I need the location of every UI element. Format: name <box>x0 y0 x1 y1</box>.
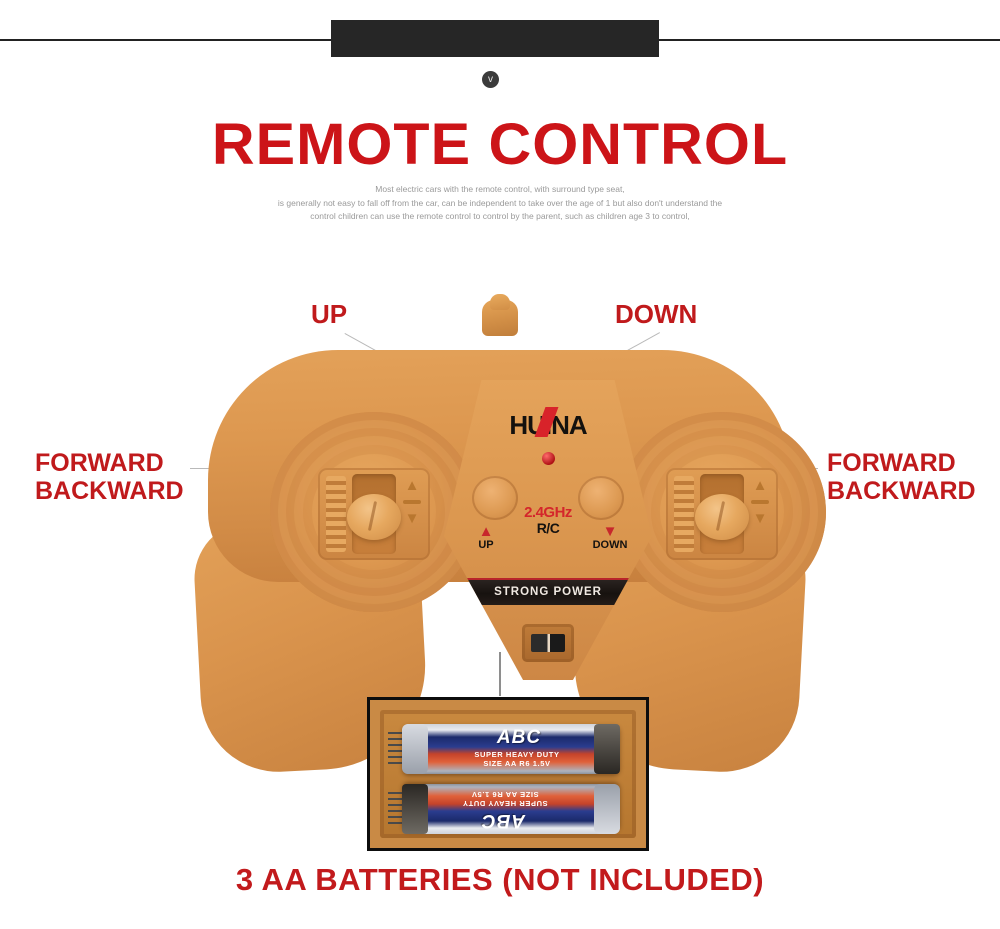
subtitle-line-3: control children can use the remote cont… <box>160 210 840 224</box>
joystick-right-knob[interactable] <box>695 494 749 540</box>
callout-right-forward: FORWARD <box>827 449 976 477</box>
joystick-pod-left: ▲ ▼ <box>270 412 478 612</box>
battery-cell-bottom-cap-negative <box>594 784 620 834</box>
joystick-right-divider <box>751 500 769 504</box>
joystick-left-ridges <box>326 476 346 552</box>
callout-right-stick: FORWARD BACKWARD <box>827 449 976 505</box>
up-label-group: ▲ UP <box>456 526 516 551</box>
bottom-caption: 3 AA BATTERIES (NOT INCLUDED) <box>0 862 1000 898</box>
up-down-labels: ▲ UP ▼ DOWN <box>444 526 652 566</box>
callout-right-backward: BACKWARD <box>827 477 976 505</box>
page-subtitle: Most electric cars with the remote contr… <box>160 183 840 224</box>
battery-brand-bottom: ABC <box>438 809 568 831</box>
battery-line2-bottom: SIZE AA R6 1.5V <box>430 790 580 799</box>
battery-cell-top-cap-positive <box>594 724 620 774</box>
battery-cell-bottom: ABC SUPER HEAVY DUTY SIZE AA R6 1.5V <box>402 784 620 834</box>
battery-leader-line <box>499 652 501 696</box>
down-arrow-icon: ▼ <box>580 526 640 537</box>
battery-cell-top: ABC SUPER HEAVY DUTY SIZE AA R6 1.5V <box>402 724 620 774</box>
joystick-right-arrow-indicators: ▲ ▼ <box>749 476 771 552</box>
battery-cell-top-cap-negative <box>402 724 428 774</box>
frequency-label: 2.4GHz <box>444 504 652 521</box>
joystick-right-arrow-down: ▼ <box>749 511 771 526</box>
joystick-left-divider <box>403 500 421 504</box>
battery-spring-bottom <box>388 792 402 826</box>
chevron-down-icon[interactable]: v <box>482 71 499 88</box>
joystick-right-arrow-up: ▲ <box>749 478 771 493</box>
remote-deck: ▲ ▼ ▲ ▼ <box>208 350 792 582</box>
page-root: v REMOTE CONTROL Most electric cars with… <box>0 0 1000 929</box>
down-label-group: ▼ DOWN <box>580 526 640 551</box>
joystick-left[interactable]: ▲ ▼ <box>318 468 430 560</box>
page-title: REMOTE CONTROL <box>0 111 1000 178</box>
joystick-left-knob[interactable] <box>347 494 401 540</box>
subtitle-line-1: Most electric cars with the remote contr… <box>160 183 840 197</box>
power-switch[interactable] <box>522 624 574 662</box>
power-switch-rocker[interactable] <box>531 634 565 652</box>
power-led-indicator <box>542 452 555 465</box>
strong-power-banner: STRONG POWER <box>466 578 630 605</box>
subtitle-line-2: is generally not easy to fall off from t… <box>160 197 840 211</box>
battery-line2-top: SIZE AA R6 1.5V <box>442 759 592 768</box>
brand-logo: HUINA <box>444 410 652 441</box>
joystick-left-arrow-up: ▲ <box>401 478 423 493</box>
up-arrow-icon: ▲ <box>456 526 516 537</box>
joystick-right-ridges <box>674 476 694 552</box>
joystick-pod-right: ▲ ▼ <box>618 412 826 612</box>
battery-line1-top: SUPER HEAVY DUTY <box>442 750 592 759</box>
joystick-left-arrow-down: ▼ <box>401 511 423 526</box>
battery-line1-bottom: SUPER HEAVY DUTY <box>430 799 580 808</box>
battery-cell-bottom-cap-positive <box>402 784 428 834</box>
battery-spring-top <box>388 732 402 766</box>
battery-brand-top: ABC <box>454 727 584 749</box>
battery-compartment-inset: ABC SUPER HEAVY DUTY SIZE AA R6 1.5V ABC… <box>367 697 649 851</box>
joystick-right[interactable]: ▲ ▼ <box>666 468 778 560</box>
joystick-left-arrow-indicators: ▲ ▼ <box>401 476 423 552</box>
down-label: DOWN <box>593 539 628 551</box>
up-label: UP <box>478 539 493 551</box>
battery-tray: ABC SUPER HEAVY DUTY SIZE AA R6 1.5V ABC… <box>380 710 636 838</box>
top-dark-bar <box>331 20 659 57</box>
